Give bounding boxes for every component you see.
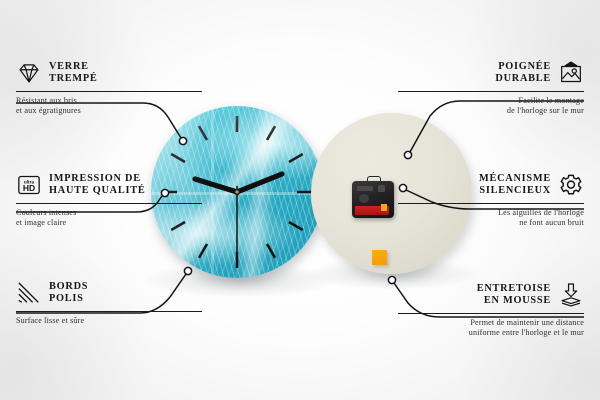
feature-header: MÉCANISME SILENCIEUX (398, 170, 584, 200)
diamond-icon (16, 60, 42, 86)
feature-title: IMPRESSION DE HAUTE QUALITÉ (49, 173, 145, 198)
feature-header: POIGNÉE DURABLE (398, 58, 584, 88)
feature-header: BORDS POLIS (16, 278, 202, 308)
arrow-down-layers-icon (558, 282, 584, 308)
feature-divider (16, 311, 202, 312)
feature-divider (398, 91, 584, 92)
feature-title: VERRE TREMPÉ (49, 61, 98, 86)
feature-divider (398, 203, 584, 204)
mechanism-detail (359, 194, 369, 203)
mechanism-detail (357, 186, 373, 191)
feature-divider (16, 91, 202, 92)
feature-header: ENTRETOISE EN MOUSSE (398, 280, 584, 310)
feature-polished-edges: BORDS POLIS Surface lisse et sûre (16, 278, 202, 326)
feature-description: Permet de maintenir une distance uniform… (398, 318, 584, 338)
infographic-canvas: VERRE TREMPÉ Résistant aux bris et aux é… (0, 0, 600, 400)
feature-title: BORDS POLIS (49, 281, 88, 306)
polished-edges-icon (16, 280, 42, 306)
ultra-hd-icon: ultra HD (16, 172, 42, 198)
gear-icon (558, 172, 584, 198)
feature-description: Les aiguilles de l'horloge ne font aucun… (398, 208, 584, 228)
feature-divider (16, 203, 202, 204)
feature-silent-mechanism: MÉCANISME SILENCIEUX Les aiguilles de l'… (398, 170, 584, 228)
feature-description: Surface lisse et sûre (16, 316, 202, 326)
battery-positive-terminal (381, 204, 387, 211)
feature-divider (398, 313, 584, 314)
feature-description: Couleurs intenses et image claire (16, 208, 202, 228)
mechanism-detail (378, 185, 385, 192)
ultra-hd-large-label: HD (23, 183, 35, 193)
foam-spacer (372, 250, 387, 265)
picture-frame-icon (558, 60, 584, 86)
feature-description: Résistant aux bris et aux égratignures (16, 96, 202, 116)
battery (355, 206, 389, 215)
feature-title: ENTRETOISE EN MOUSSE (477, 283, 551, 308)
clock-mechanism (352, 176, 394, 218)
feature-high-quality-print: ultra HD IMPRESSION DE HAUTE QUALITÉ Cou… (16, 170, 202, 228)
feature-description: Facilite le montage de l'horloge sur le … (398, 96, 584, 116)
feature-title: MÉCANISME SILENCIEUX (479, 173, 551, 198)
feature-header: ultra HD IMPRESSION DE HAUTE QUALITÉ (16, 170, 202, 200)
feature-header: VERRE TREMPÉ (16, 58, 202, 88)
feature-title: POIGNÉE DURABLE (495, 61, 551, 86)
feature-durable-hanger: POIGNÉE DURABLE Facilite le montage de l… (398, 58, 584, 116)
feature-tempered-glass: VERRE TREMPÉ Résistant aux bris et aux é… (16, 58, 202, 116)
feature-foam-spacer: ENTRETOISE EN MOUSSE Permet de maintenir… (398, 280, 584, 338)
mechanism-housing (352, 181, 394, 218)
